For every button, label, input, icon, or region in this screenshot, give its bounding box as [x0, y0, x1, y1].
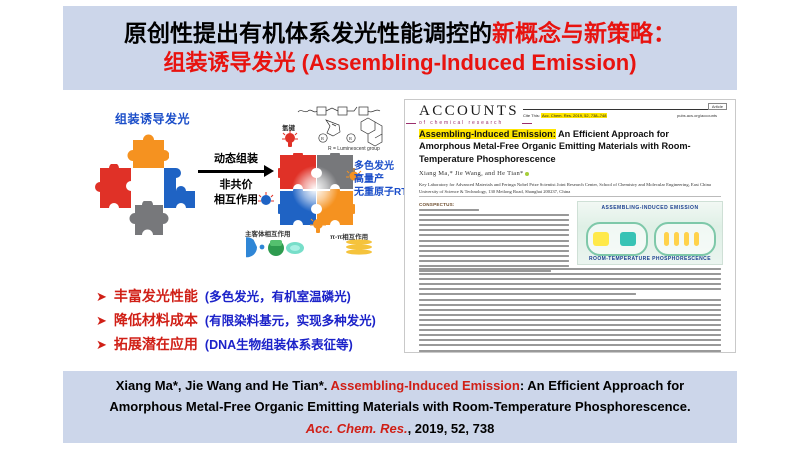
bullet-paren-text: (DNA生物组装体系表征等)	[205, 334, 353, 353]
list-item: ➤ 降低材料成本 (有限染料基元，实现多种发光)	[96, 310, 456, 330]
puzzle-piece-gray-scattered	[127, 201, 171, 239]
citation-banner: Xiang Ma*, Jie Wang and He Tian*. Assemb…	[63, 371, 737, 443]
title-line-2-chinese: 组装诱导发光	[163, 50, 301, 75]
toc-bar-2	[674, 232, 679, 246]
citation-authors: Xiang Ma*, Jie Wang and He Tian*.	[116, 378, 331, 393]
bullet-paren-text: (多色发光，有机室温磷光)	[205, 286, 351, 305]
citation-line-1: Xiang Ma*, Jie Wang and He Tian*. Assemb…	[116, 375, 685, 396]
journal-name: ACCOUNTS	[419, 104, 519, 119]
arrow-label-noncovalent: 非共价	[197, 176, 275, 192]
bullet-arrow-icon: ➤	[96, 314, 107, 327]
toc-heading: ASSEMBLING-INDUCED EMISSION	[578, 205, 722, 211]
publisher-url[interactable]: pubs.acs.org/accounts	[677, 113, 717, 118]
diagram-heading: 组装诱导发光	[115, 110, 190, 127]
abstract-column-left	[419, 202, 569, 275]
table-of-contents-graphic: ASSEMBLING-INDUCED EMISSION ROOM-TEMPERA…	[577, 201, 723, 265]
cite-this-strip: Cite This: Acc. Chem. Res. 2019, 52, 738…	[523, 113, 607, 118]
svg-text:R: R	[321, 136, 324, 141]
masthead-rule	[523, 109, 723, 110]
journal-subtitle: of chemical research	[419, 120, 519, 126]
key-points-list: ➤ 丰富发光性能 (多色发光，有机室温磷光) ➤ 降低材料成本 (有限染料基元，…	[96, 286, 456, 358]
title-line-1: 原创性提出有机体系发光性能调控的新概念与新策略：	[124, 20, 676, 47]
bullet-arrow-icon: ➤	[96, 290, 107, 303]
title-line-1-red: 新概念与新策略：	[492, 20, 676, 46]
orcid-icon	[525, 172, 529, 176]
toc-bar-4	[694, 232, 699, 246]
chem-structure-caption: R = Luminescent group	[328, 146, 380, 152]
polymer-chemical-structure-sketch: R R	[296, 102, 398, 150]
bullet-main-text: 拓展潜在应用	[114, 334, 198, 354]
journal-masthead: ACCOUNTS of chemical research	[419, 104, 519, 126]
citation-line-2: Amorphous Metal-Free Organic Emitting Ma…	[109, 396, 690, 417]
citation-volume-page: , 2019, 52, 738	[408, 421, 495, 436]
citation-journal-name: Acc. Chem. Res.	[306, 421, 408, 436]
bullet-main-text: 降低材料成本	[114, 310, 198, 330]
toc-lens-right	[654, 222, 716, 256]
abstract-body-full-width	[419, 268, 721, 353]
toc-lens-left	[586, 222, 648, 256]
host-guest-pictograms	[246, 236, 306, 263]
svg-text:R: R	[349, 136, 352, 141]
bullet-main-text: 丰富发光性能	[114, 286, 198, 306]
bullet-paren-text: (有限染料基元，实现多种发光)	[205, 310, 376, 329]
label-hydrogen-bond: 氢键	[282, 122, 295, 132]
toc-cell-teal	[620, 232, 636, 246]
pi-pi-stack-pictogram	[342, 238, 376, 263]
emission-bulb-orange-bottom-icon	[310, 216, 326, 241]
title-line-2-english: (Assembling-Induced Emission)	[302, 50, 637, 75]
slide-title-banner: 原创性提出有机体系发光性能调控的新概念与新策略： 组装诱导发光 (Assembl…	[63, 6, 737, 90]
citation-concept-highlight: Assembling-Induced Emission	[331, 378, 520, 393]
arrow-label-dynamic-assembly: 动态组装	[203, 150, 269, 166]
title-line-1-black: 原创性提出有机体系发光性能调控的	[124, 20, 492, 46]
emission-bulb-blue-icon	[258, 192, 274, 215]
authors-text: Xiang Ma,* Jie Wang, and He Tian*	[419, 170, 524, 177]
toc-cell-yellow	[593, 232, 609, 246]
arrow-shaft	[198, 170, 266, 173]
paper-title: Assembling-Induced Emission: An Efficien…	[419, 128, 719, 165]
list-item: ➤ 丰富发光性能 (多色发光，有机室温磷光)	[96, 286, 456, 306]
toc-bar-1	[664, 232, 669, 246]
assembly-diagram-panel: 组装诱导发光 动态组装 非共价 相互作用	[10, 98, 400, 276]
list-item: ➤ 拓展潜在应用 (DNA生物组装体系表征等)	[96, 334, 456, 354]
article-type-badge: Article	[708, 103, 727, 110]
toc-bar-3	[684, 232, 689, 246]
bullet-arrow-icon: ➤	[96, 338, 107, 351]
citation-line-3: Acc. Chem. Res., 2019, 52, 738	[306, 418, 495, 439]
title-line-2: 组装诱导发光 (Assembling-Induced Emission)	[163, 50, 636, 76]
emission-bulb-red-icon	[282, 130, 298, 155]
toc-footer: ROOM-TEMPERATURE PHOSPHORESCENCE	[578, 256, 722, 262]
citation-title-part1: : An Efficient Approach for	[520, 378, 684, 393]
paper-affiliation: Key Laboratory for Advanced Materials an…	[419, 182, 719, 196]
cite-this-reference: Acc. Chem. Res. 2019, 52, 738–748	[541, 113, 607, 118]
paper-authors: Xiang Ma,* Jie Wang, and He Tian*	[419, 170, 530, 177]
affiliation-rule	[419, 196, 721, 197]
assembled-puzzle-block	[278, 153, 352, 225]
paper-title-highlighted-phrase: Assembling-Induced Emission:	[419, 129, 556, 139]
cite-this-label: Cite This:	[523, 113, 541, 118]
